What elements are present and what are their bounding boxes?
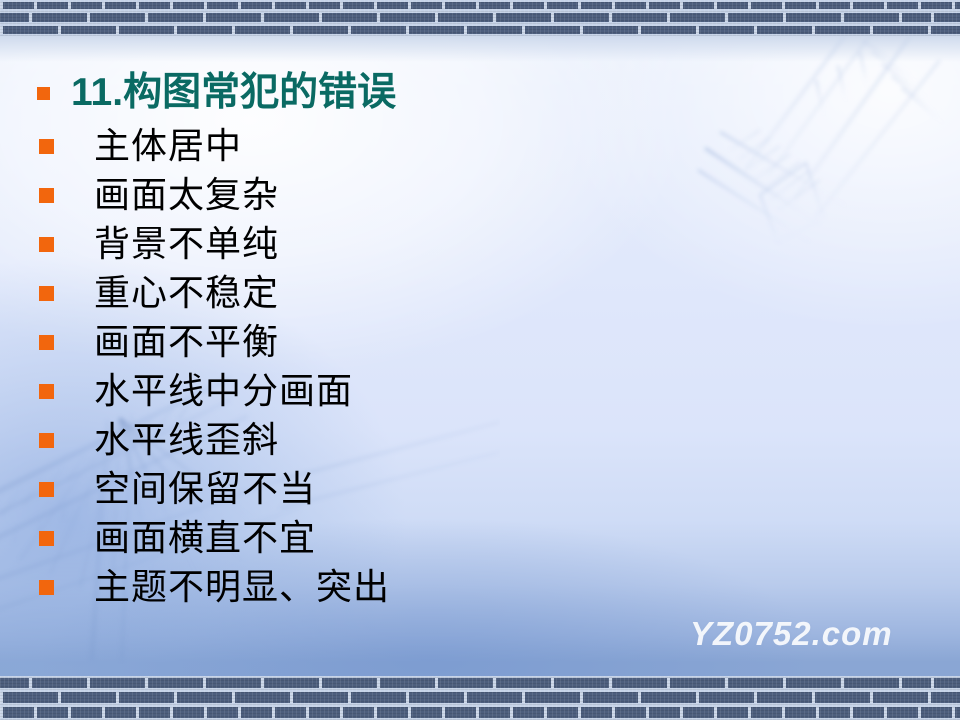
list-item: 水平线中分画面 [39, 369, 353, 413]
square-bullet-icon [39, 139, 54, 154]
square-bullet-icon [37, 87, 50, 100]
square-bullet-icon [39, 335, 54, 350]
list-item: 主题不明显、突出 [39, 565, 390, 609]
square-bullet-icon [39, 531, 54, 546]
list-item-label: 空间保留不当 [94, 468, 316, 510]
slide-title-row: 11.构图常犯的错误 [37, 70, 396, 116]
square-bullet-icon [39, 188, 54, 203]
list-item-label: 主题不明显、突出 [94, 566, 390, 608]
list-item-label: 水平线歪斜 [94, 419, 279, 461]
square-bullet-icon [39, 237, 54, 252]
list-item-label: 背景不单纯 [94, 223, 279, 265]
square-bullet-icon [39, 384, 54, 399]
list-item-label: 水平线中分画面 [94, 370, 353, 412]
list-item: 重心不稳定 [39, 271, 279, 315]
list-item-label: 画面太复杂 [94, 174, 279, 216]
square-bullet-icon [39, 433, 54, 448]
list-item: 空间保留不当 [39, 467, 316, 511]
slide-canvas: 11.构图常犯的错误 主体居中 画面太复杂 背景不单纯 重心不稳定 画面不平衡 … [0, 0, 960, 720]
list-item: 画面不平衡 [39, 320, 279, 364]
list-item: 水平线歪斜 [39, 418, 279, 462]
list-item-label: 重心不稳定 [94, 272, 279, 314]
list-item: 画面太复杂 [39, 173, 279, 217]
list-item: 主体居中 [39, 124, 242, 168]
list-item: 画面横直不宜 [39, 516, 316, 560]
list-item-label: 画面横直不宜 [94, 517, 316, 559]
square-bullet-icon [39, 286, 54, 301]
slide-content: 11.构图常犯的错误 主体居中 画面太复杂 背景不单纯 重心不稳定 画面不平衡 … [0, 0, 960, 720]
page-title: 11.构图常犯的错误 [71, 71, 396, 115]
square-bullet-icon [39, 482, 54, 497]
list-item-label: 画面不平衡 [94, 321, 279, 363]
square-bullet-icon [39, 580, 54, 595]
list-item-label: 主体居中 [94, 125, 242, 167]
list-item: 背景不单纯 [39, 222, 279, 266]
